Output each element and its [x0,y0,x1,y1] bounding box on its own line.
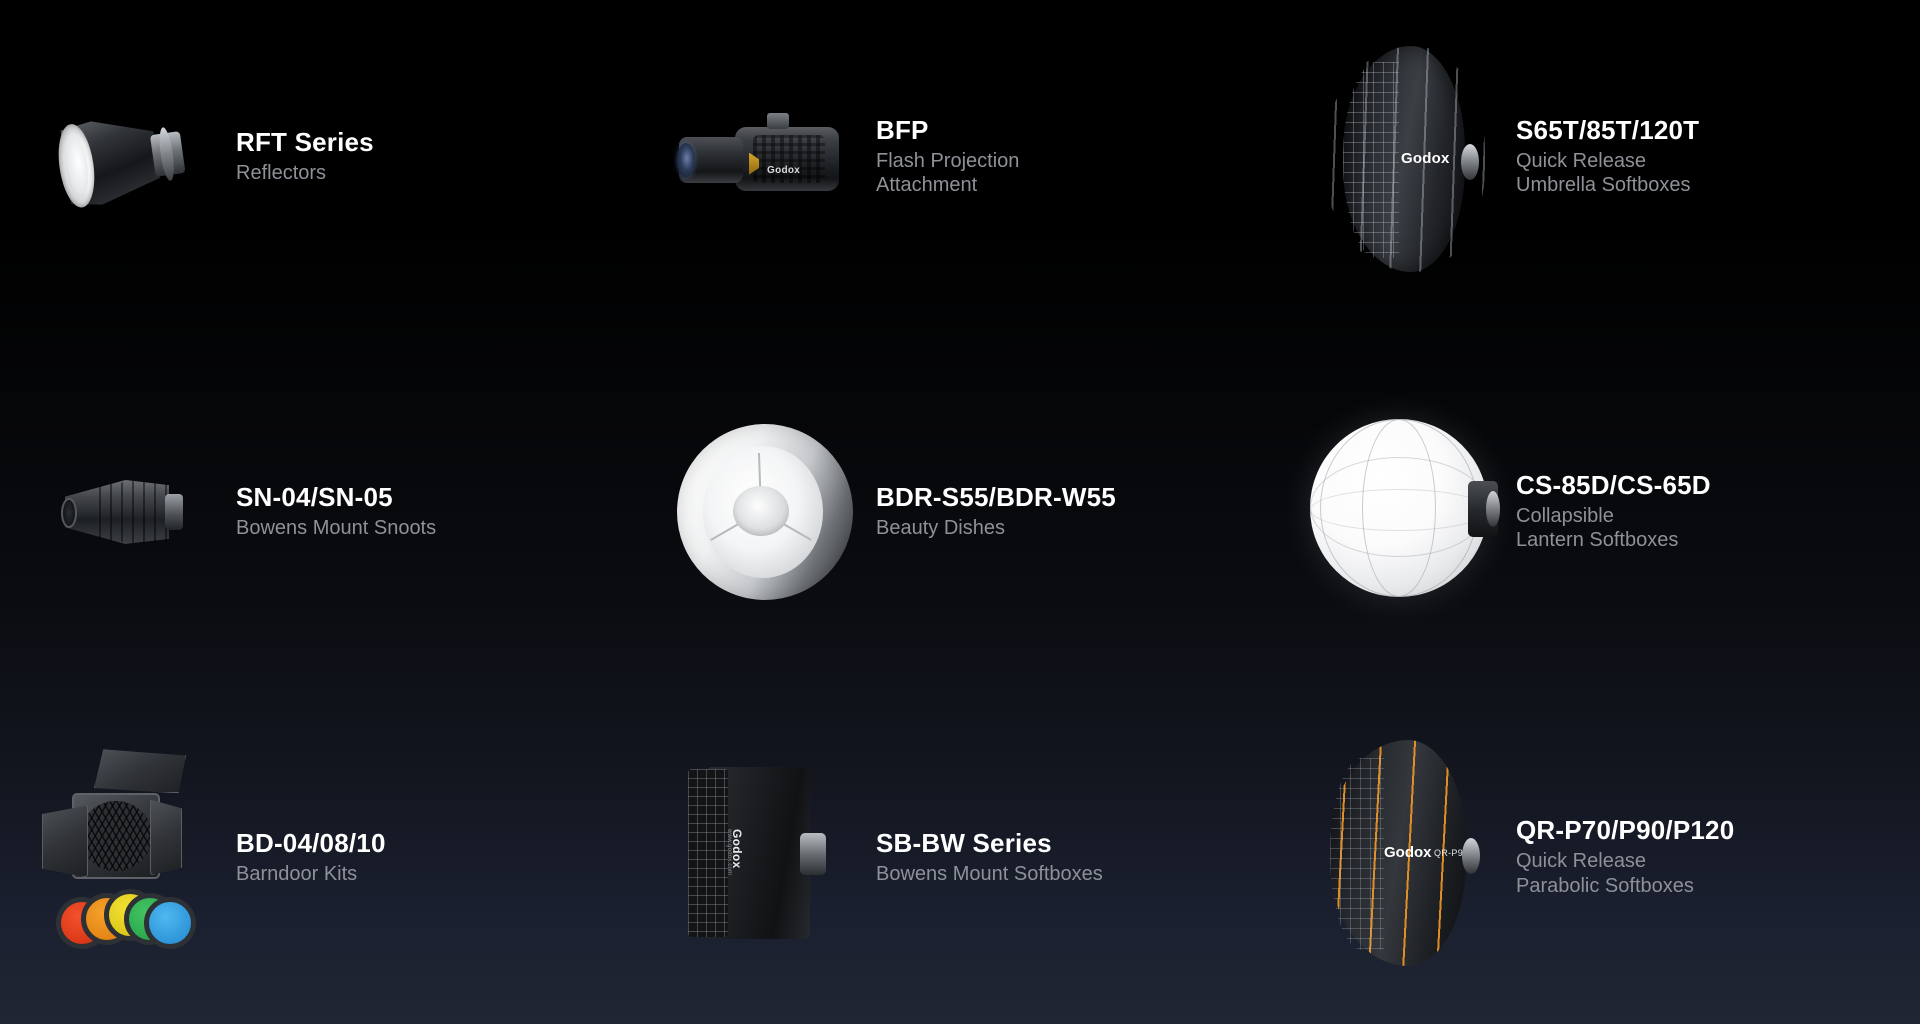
product-subtitle: Collapsible Lantern Softboxes [1516,504,1711,553]
product-subtitle: Bowens Mount Snoots [236,516,436,540]
product-title: BD-04/08/10 [236,829,386,859]
product-subtitle: Barndoor Kits [236,862,386,886]
product-card-sn-04-sn-05[interactable]: SN-04/SN-05 Bowens Mount Snoots [0,341,640,682]
product-brand-mark: Godox [730,829,744,869]
parabolic-softbox-product-image: Godox QR-P90 [1310,738,1500,968]
product-card-s65t-85t-120t[interactable]: Godox S65T/85T/120T Quick Release Umbrel… [1280,0,1920,341]
product-grid: RFT Series Reflectors Godox BFP Flash [0,0,1920,1024]
reflector-product-image [30,44,220,274]
product-card-sb-bw-series[interactable]: www.godox.com Godox SB-BW Series Bowens … [640,683,1280,1024]
barndoor-kit-product-image [30,738,220,968]
product-subtitle: Beauty Dishes [876,516,1116,540]
lantern-softbox-product-image [1310,397,1500,627]
product-labels: CS-85D/CS-65D Collapsible Lantern Softbo… [1516,471,1711,553]
beauty-dish-product-image [670,397,860,627]
product-title: QR-P70/P90/P120 [1516,816,1734,846]
product-labels: S65T/85T/120T Quick Release Umbrella Sof… [1516,116,1699,198]
product-card-cs-85d-cs-65d[interactable]: CS-85D/CS-65D Collapsible Lantern Softbo… [1280,341,1920,682]
product-subtitle: Quick Release Parabolic Softboxes [1516,849,1734,898]
snoot-icon [65,474,185,550]
product-labels: SB-BW Series Bowens Mount Softboxes [876,829,1103,886]
product-subtitle: Reflectors [236,161,374,185]
umbrella-softbox-product-image: Godox [1310,44,1500,274]
product-lineup-page: RFT Series Reflectors Godox BFP Flash [0,0,1920,1024]
product-brand-mark: Godox [767,165,800,176]
flash-projector-icon: Godox [675,113,855,205]
product-card-bdr-s55-bdr-w55[interactable]: BDR-S55/BDR-W55 Beauty Dishes [640,341,1280,682]
bowens-softbox-icon: www.godox.com Godox [692,759,838,947]
product-subtitle: Flash Projection Attachment [876,149,1019,198]
product-card-bfp[interactable]: Godox BFP Flash Projection Attachment [640,0,1280,341]
product-card-rft-series[interactable]: RFT Series Reflectors [0,0,640,341]
umbrella-softbox-icon: Godox [1325,46,1485,272]
snoot-product-image [30,397,220,627]
product-brand-mark: Godox [1384,844,1432,861]
product-title: RFT Series [236,128,374,158]
bowens-softbox-product-image: www.godox.com Godox [670,738,860,968]
product-labels: BDR-S55/BDR-W55 Beauty Dishes [876,483,1116,540]
product-title: BDR-S55/BDR-W55 [876,483,1116,513]
lantern-softbox-icon [1310,419,1500,605]
product-labels: BD-04/08/10 Barndoor Kits [236,829,386,886]
product-title: CS-85D/CS-65D [1516,471,1711,501]
product-card-bd-04-08-10[interactable]: BD-04/08/10 Barndoor Kits [0,683,640,1024]
flash-projector-product-image: Godox [670,44,860,274]
product-title: BFP [876,116,1019,146]
product-subtitle: Bowens Mount Softboxes [876,862,1103,886]
beauty-dish-icon [677,424,853,600]
parabolic-softbox-icon: Godox QR-P90 [1316,740,1494,966]
color-gel-set-icon [56,893,196,949]
product-labels: BFP Flash Projection Attachment [876,116,1019,198]
product-title: SB-BW Series [876,829,1103,859]
product-card-qr-p70-p90-p120[interactable]: Godox QR-P90 QR-P70/P90/P120 Quick Relea… [1280,683,1920,1024]
barndoor-kit-icon [50,753,200,953]
product-brand-mark: Godox [1401,150,1450,167]
product-labels: SN-04/SN-05 Bowens Mount Snoots [236,483,436,540]
product-title: SN-04/SN-05 [236,483,436,513]
product-labels: QR-P70/P90/P120 Quick Release Parabolic … [1516,816,1734,898]
reflector-icon [60,109,191,209]
product-subtitle: Quick Release Umbrella Softboxes [1516,149,1699,198]
product-labels: RFT Series Reflectors [236,128,374,185]
product-title: S65T/85T/120T [1516,116,1699,146]
